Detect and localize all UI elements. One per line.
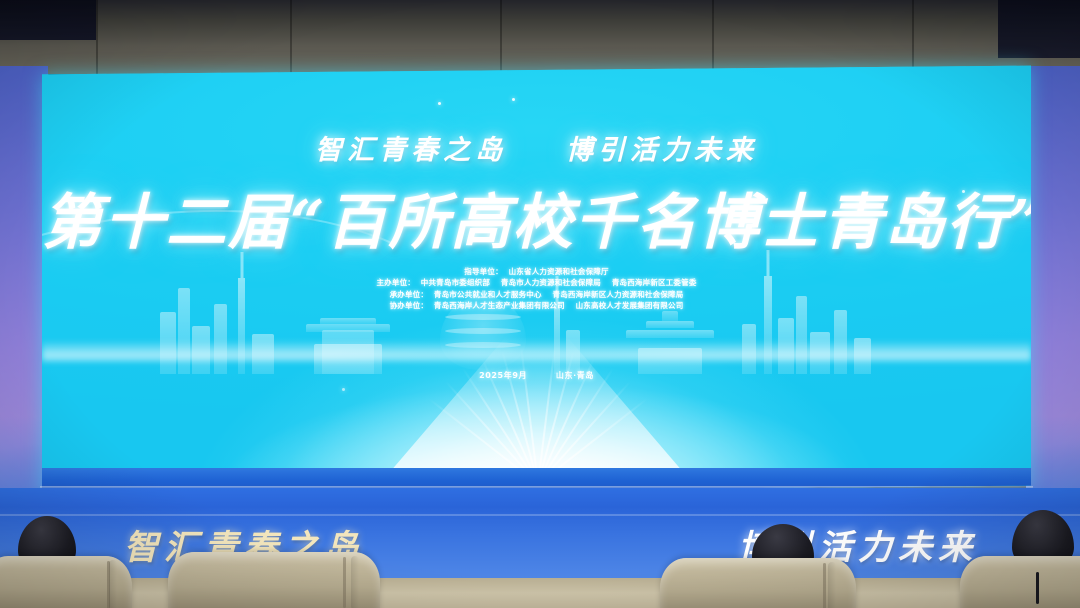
- credit-line-host: 主办单位： 中共青岛市委组织部 青岛市人力资源和社会保障局 青岛西海岸新区工委管…: [42, 277, 1031, 288]
- led-banner-lower: 智汇青春之岛 博引活力未来: [0, 488, 1080, 608]
- ceiling-dark-right: [998, 0, 1080, 58]
- credit-label: 主办单位：: [376, 278, 415, 287]
- chair-back: [660, 558, 856, 608]
- credit-label: 协办单位：: [390, 301, 429, 310]
- ceiling-band: [0, 0, 1080, 74]
- screen-subtitle: 智汇青春之岛 博引活力未来: [42, 128, 1031, 167]
- credit-org: 山东高校人才发展集团有限公司: [576, 301, 684, 310]
- subtitle-part-right: 博引活力未来: [566, 135, 758, 166]
- perspective-road: [387, 336, 687, 476]
- credit-org: 青岛西海岸人才生态产业集团有限公司: [434, 301, 565, 310]
- credit-org: 山东省人力资源和社会保障厅: [509, 267, 609, 276]
- sparkle: [342, 388, 345, 391]
- credit-org: 青岛西海岸新区工委管委: [612, 278, 697, 287]
- table-top-surface: [0, 578, 1080, 608]
- chair-back: [0, 556, 132, 608]
- ceiling-seam: [290, 0, 292, 74]
- subtitle-part-left: 智汇青春之岛: [315, 135, 507, 166]
- chair-back: [960, 556, 1080, 608]
- led-screen-main: 智汇青春之岛 博引活力未来 第十二届“百所高校千名博士青岛行” 指导单位： 山东…: [42, 66, 1031, 495]
- screen-main-title: 第十二届“百所高校千名博士青岛行”: [42, 174, 1031, 261]
- ceiling-seam: [96, 0, 98, 74]
- credit-org: 青岛西海岸新区人力资源和社会保障局: [553, 290, 684, 299]
- organizer-credits-block: 指导单位： 山东省人力资源和社会保障厅 主办单位： 中共青岛市委组织部 青岛市人…: [42, 266, 1031, 312]
- wall-panel-right: [1026, 66, 1080, 536]
- event-date: 2025年9月: [479, 371, 527, 380]
- ceiling-seam: [712, 0, 714, 74]
- ceiling-seam: [912, 0, 914, 74]
- credit-line-guidance: 指导单位： 山东省人力资源和社会保障厅: [42, 266, 1031, 277]
- light-burst-ground: [42, 320, 1031, 490]
- credit-line-coorganizer: 协办单位： 青岛西海岸人才生态产业集团有限公司 山东高校人才发展集团有限公司: [42, 300, 1031, 311]
- date-place-line: 2025年9月 山东·青岛: [42, 370, 1031, 381]
- event-place: 山东·青岛: [556, 371, 594, 380]
- stage-scene: 智汇青春之岛 博引活力未来 第十二届“百所高校千名博士青岛行” 指导单位： 山东…: [0, 0, 1080, 608]
- credit-label: 指导单位：: [464, 267, 503, 276]
- credit-org: 青岛市人力资源和社会保障局: [501, 278, 601, 287]
- sparkle: [512, 98, 515, 101]
- microphone-stem: [1036, 572, 1039, 604]
- credit-org: 中共青岛市委组织部: [421, 278, 490, 287]
- credit-label: 承办单位：: [390, 290, 429, 299]
- sparkle: [438, 102, 441, 105]
- credit-line-organizer: 承办单位： 青岛市公共就业和人才服务中心 青岛西海岸新区人力资源和社会保障局: [42, 289, 1031, 300]
- ceiling-dark-left: [0, 0, 96, 40]
- chair-back: [168, 552, 380, 608]
- ceiling-seam: [500, 0, 502, 74]
- credit-org: 青岛市公共就业和人才服务中心: [434, 290, 542, 299]
- wall-panel-left: [0, 66, 48, 536]
